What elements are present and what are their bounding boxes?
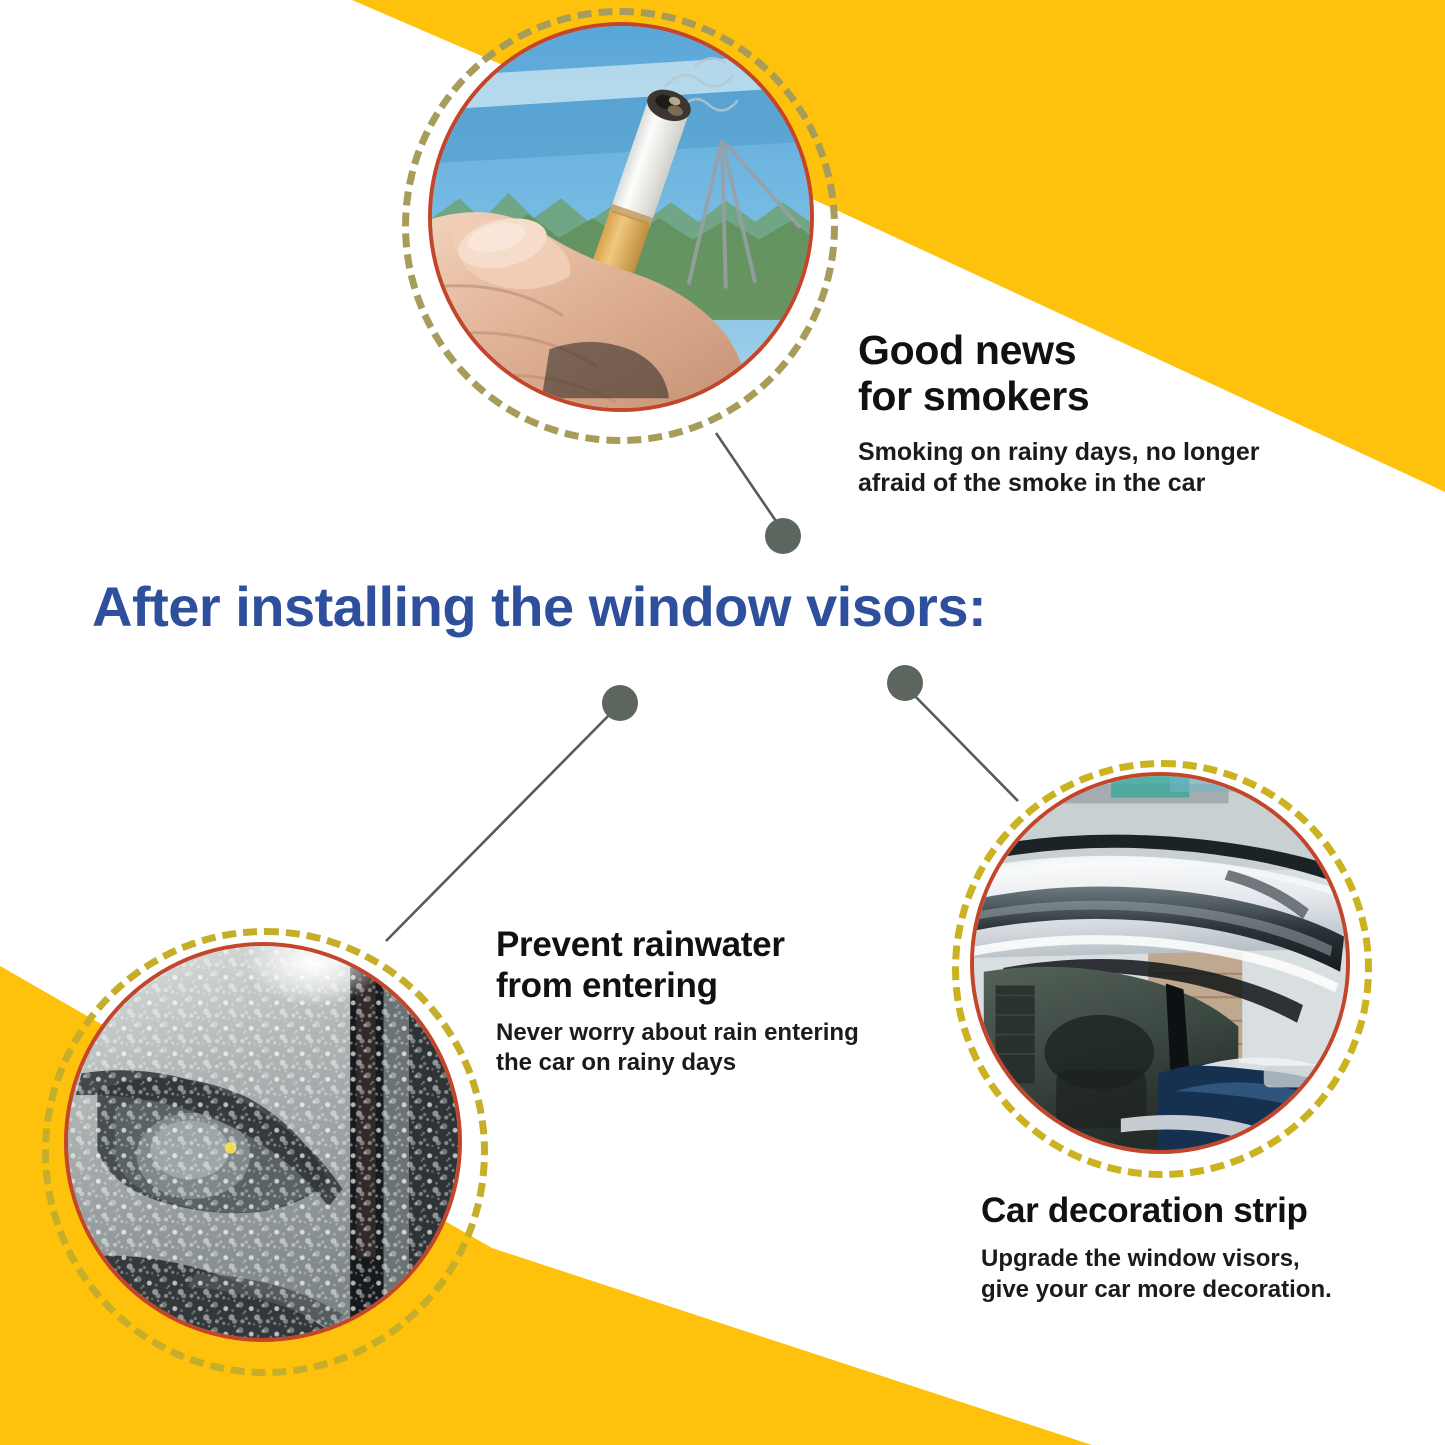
feature-photo-decoration	[952, 760, 1372, 1178]
page-title: After installing the window visors:	[92, 574, 986, 640]
connector-dot-smokers	[765, 518, 801, 554]
photo-rain-window	[64, 942, 462, 1342]
connector-dot-rainwater	[602, 685, 638, 721]
feature-photo-rainwater	[42, 928, 488, 1376]
feature-text-smokers: Good news for smokers Smoking on rainy d…	[858, 327, 1288, 499]
infographic-canvas: After installing the window visors: Good…	[0, 0, 1445, 1445]
feature-title-smokers: Good news for smokers	[858, 327, 1288, 419]
connector-dot-decoration	[887, 665, 923, 701]
photo-cigarette	[428, 22, 814, 412]
photo-car-visor	[970, 772, 1350, 1154]
feature-title-rainwater: Prevent rainwater from entering	[496, 924, 896, 1006]
feature-text-decoration: Car decoration strip Upgrade the window …	[981, 1190, 1411, 1305]
feature-title-decoration: Car decoration strip	[981, 1190, 1411, 1231]
feature-subtitle-decoration: Upgrade the window visors, give your car…	[981, 1243, 1411, 1305]
feature-photo-smokers	[402, 8, 838, 444]
feature-text-rainwater: Prevent rainwater from entering Never wo…	[496, 924, 896, 1078]
feature-subtitle-rainwater: Never worry about rain entering the car …	[496, 1018, 896, 1078]
feature-subtitle-smokers: Smoking on rainy days, no longer afraid …	[858, 437, 1288, 499]
